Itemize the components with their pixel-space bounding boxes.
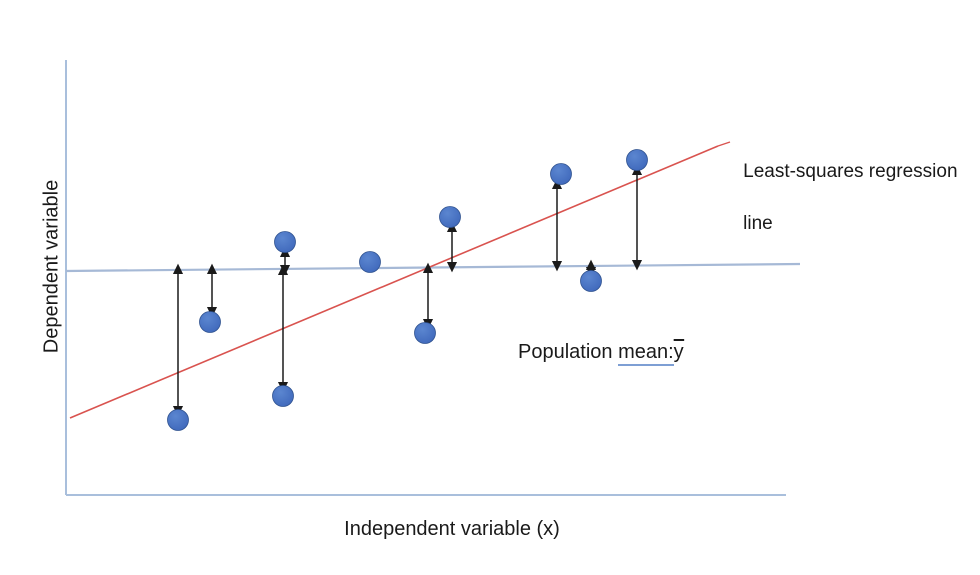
y-axis-label: Dependent variable: [41, 147, 64, 387]
data-point-1: [168, 410, 189, 431]
data-point-5: [360, 252, 381, 273]
y-bar-symbol: y: [674, 341, 685, 363]
data-point-6: [415, 323, 436, 344]
data-point-9: [581, 271, 602, 292]
population-mean-label: Population mean:y: [518, 339, 684, 365]
data-point-2: [200, 312, 221, 333]
regression-label-line2: line: [743, 213, 773, 234]
population-mean-prefix: Population: [518, 341, 618, 363]
regression-line-path: [70, 146, 718, 418]
regression-label-line1: Least-squares regression: [743, 161, 957, 182]
figure-canvas: Dependent variable Independent variable …: [0, 0, 980, 575]
scatter-plot-svg: [0, 0, 980, 575]
data-points: [168, 150, 648, 431]
regression-line-label: Least-squares regression line: [722, 133, 962, 263]
x-axis-label: Independent variable (x): [232, 518, 672, 541]
data-point-10: [627, 150, 648, 171]
data-point-8: [551, 164, 572, 185]
data-point-4: [273, 386, 294, 407]
population-mean-underlined: mean:: [618, 341, 674, 366]
data-point-7: [440, 207, 461, 228]
data-point-3: [275, 232, 296, 253]
least-squares-regression-line: [70, 146, 718, 418]
deviation-arrows: [178, 170, 637, 411]
